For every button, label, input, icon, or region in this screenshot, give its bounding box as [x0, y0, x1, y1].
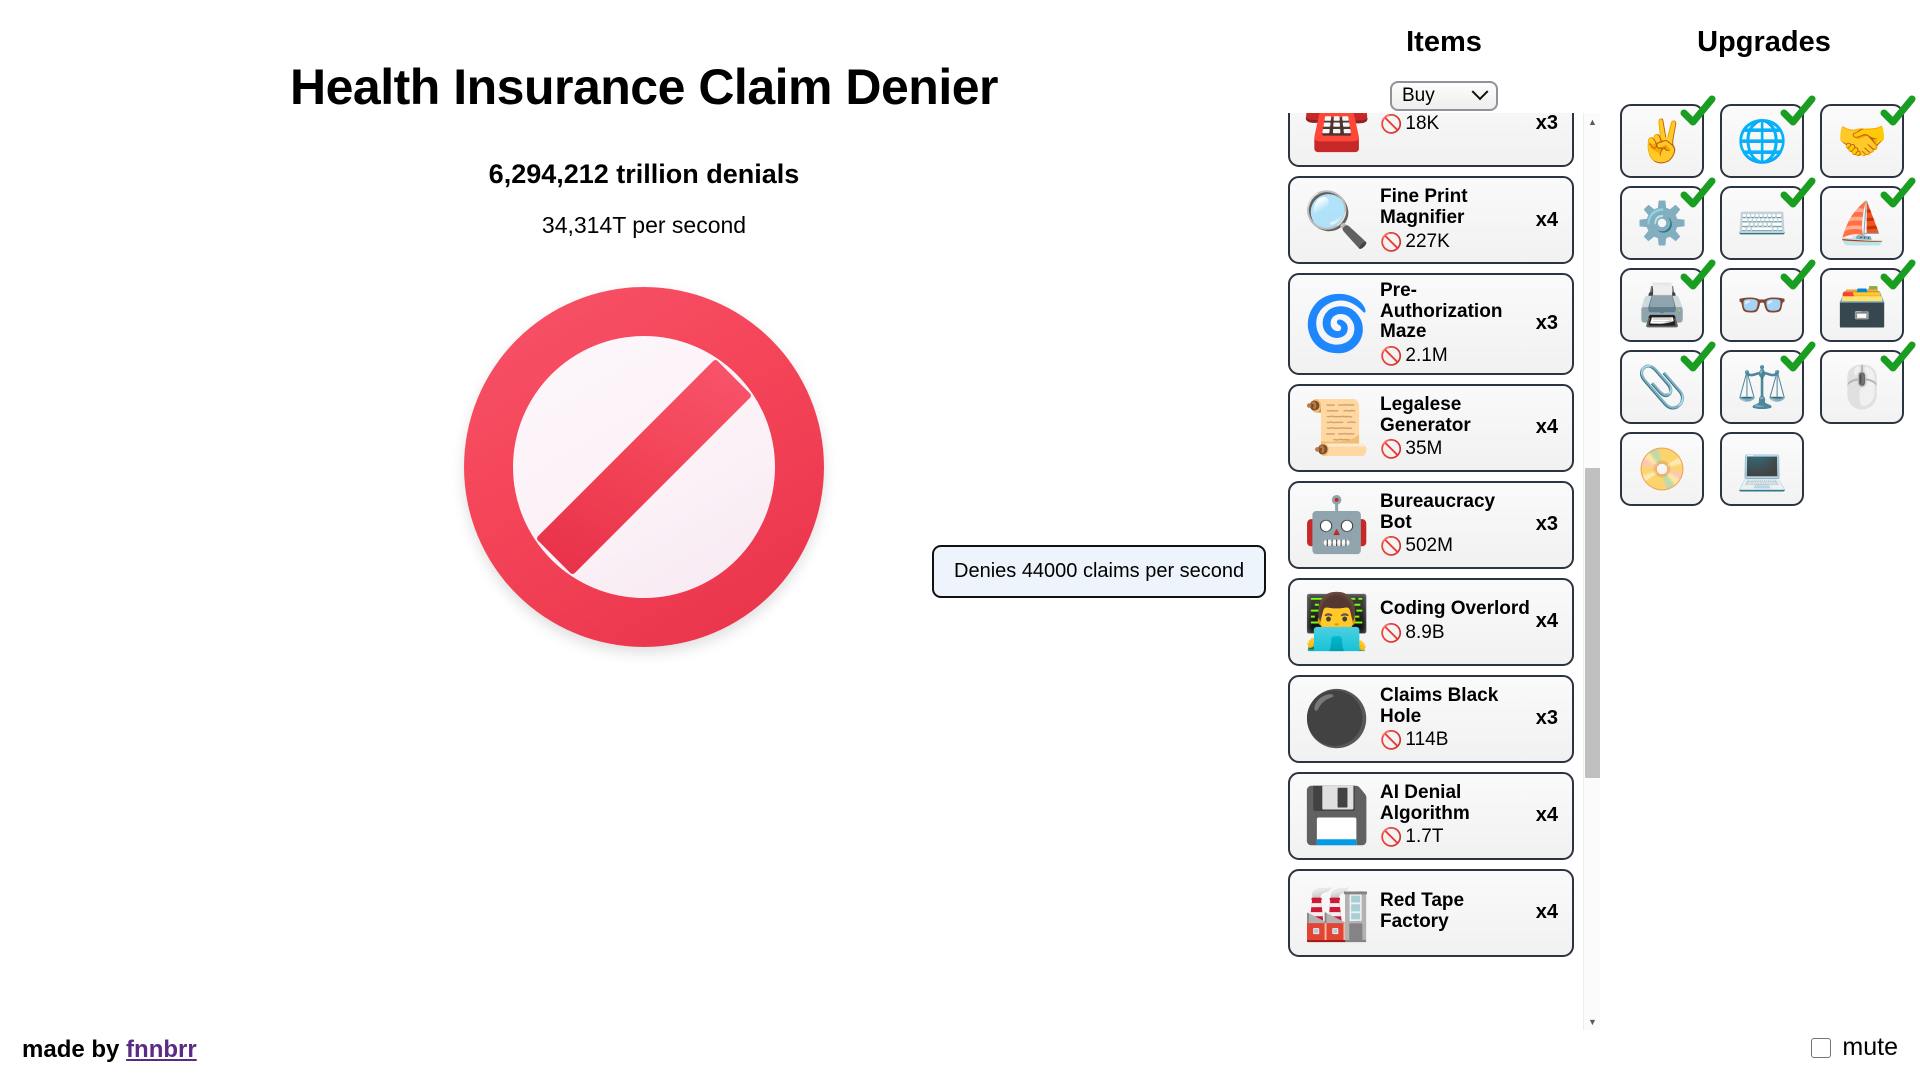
game-page: Health Insurance Claim Denier 6,294,212 …	[0, 0, 1920, 1080]
item-cost-value: 2.1M	[1405, 345, 1447, 367]
dvd-icon: 📀	[1636, 449, 1687, 490]
scroll-down-arrow-icon[interactable]: ▼	[1584, 1013, 1601, 1030]
items-list: ☎️🚫18Kx3🔍Fine Print Magnifier🚫227Kx4🌀Pre…	[1288, 113, 1578, 966]
item-details: 🚫18K	[1376, 113, 1532, 135]
item-quantity: x4	[1532, 901, 1564, 924]
upgrade-tile[interactable]: 🗃️	[1820, 268, 1904, 342]
upgrade-tile[interactable]: ⚖️	[1720, 350, 1804, 424]
chevron-down-icon	[1472, 83, 1489, 100]
item-quantity: x3	[1532, 707, 1564, 730]
upgrade-tile[interactable]: 💻	[1720, 432, 1804, 506]
card-file-box-icon: 🗃️	[1836, 285, 1887, 326]
laptop-icon: 💻	[1736, 449, 1787, 490]
scroll-icon: 📜	[1298, 392, 1376, 464]
item-details: Bureaucracy Bot🚫502M	[1376, 492, 1532, 557]
prohibition-cost-icon: 🚫	[1380, 537, 1402, 555]
item-cost-value: 35M	[1405, 438, 1442, 460]
credit-prefix: made by	[22, 1036, 126, 1063]
mute-control[interactable]: mute	[1811, 1033, 1898, 1062]
item-name: Claims Black Hole	[1380, 686, 1532, 727]
upgrade-cell: ⚙️	[1616, 182, 1716, 264]
item-cost-value: 502M	[1405, 535, 1453, 557]
upgrade-cell: 👓	[1716, 264, 1816, 346]
developer-icon: 👨‍💻	[1298, 586, 1376, 658]
item-name: AI Denial Algorithm	[1380, 783, 1532, 824]
balance-scale-icon: ⚖️	[1736, 367, 1787, 408]
item-details: AI Denial Algorithm🚫1.7T	[1376, 783, 1532, 848]
paperclip-icon: 📎	[1636, 367, 1687, 408]
prohibition-cost-icon: 🚫	[1380, 347, 1402, 365]
item-quantity: x3	[1532, 513, 1564, 536]
item-card[interactable]: 📜Legalese Generator🚫35Mx4	[1288, 384, 1574, 472]
item-quantity: x3	[1532, 113, 1564, 135]
clicker-tooltip: Denies 44000 claims per second	[932, 545, 1266, 598]
prohibition-cost-icon: 🚫	[1380, 731, 1402, 749]
prohibition-cost-icon: 🚫	[1380, 440, 1402, 458]
denial-count: 6,294,212 trillion denials	[489, 159, 800, 190]
upgrade-cell: 📀	[1616, 428, 1716, 510]
item-name: Red Tape Factory	[1380, 891, 1532, 932]
item-card[interactable]: 🌀Pre-Authorization Maze🚫2.1Mx3	[1288, 273, 1574, 375]
item-cost-value: 114B	[1405, 729, 1448, 751]
prohibition-cost-icon: 🚫	[1380, 624, 1402, 642]
item-name: Legalese Generator	[1380, 395, 1532, 436]
item-name: Coding Overlord	[1380, 599, 1532, 620]
item-quantity: x4	[1532, 209, 1564, 232]
victory-hand-icon: ✌️	[1636, 121, 1687, 162]
item-card[interactable]: 👨‍💻Coding Overlord🚫8.9Bx4	[1288, 578, 1574, 666]
upgrade-cell: 📎	[1616, 346, 1716, 428]
computer-mouse-icon: 🖱️	[1836, 367, 1887, 408]
upgrade-tile[interactable]: ✌️	[1620, 104, 1704, 178]
items-scrollbar[interactable]: ▲ ▼	[1583, 113, 1600, 1030]
upgrade-cell: ✌️	[1616, 100, 1716, 182]
denial-rate: 34,314T per second	[542, 212, 746, 239]
items-scroll-viewport: ☎️🚫18Kx3🔍Fine Print Magnifier🚫227Kx4🌀Pre…	[1288, 113, 1600, 1030]
upgrades-panel: Upgrades ✌️🌐🤝⚙️⌨️⛵🖨️👓🗃️📎⚖️🖱️📀💻	[1608, 0, 1920, 1030]
upgrade-cell: 🖨️	[1616, 264, 1716, 346]
globe-meridians-icon: 🌐	[1736, 121, 1787, 162]
item-cost-value: 8.9B	[1405, 622, 1444, 644]
mute-label: mute	[1842, 1033, 1898, 1062]
sailboat-icon: ⛵	[1836, 203, 1887, 244]
robot-icon: 🤖	[1298, 489, 1376, 561]
upgrade-cell: ⚖️	[1716, 346, 1816, 428]
upgrade-tile[interactable]: 🖱️	[1820, 350, 1904, 424]
item-quantity: x3	[1532, 312, 1564, 335]
item-card[interactable]: 💾AI Denial Algorithm🚫1.7Tx4	[1288, 772, 1574, 860]
factory-icon: 🏭	[1298, 877, 1376, 949]
item-cost: 🚫35M	[1380, 438, 1532, 460]
item-cost: 🚫8.9B	[1380, 622, 1532, 644]
upgrade-tile[interactable]: 📎	[1620, 350, 1704, 424]
floppy-disk-icon: 💾	[1298, 780, 1376, 852]
item-card[interactable]: ⚫Claims Black Hole🚫114Bx3	[1288, 675, 1574, 763]
telephone-icon: ☎️	[1298, 113, 1376, 159]
item-card[interactable]: ☎️🚫18Kx3	[1288, 113, 1574, 167]
handshake-icon: 🤝	[1836, 121, 1887, 162]
upgrades-heading: Upgrades	[1608, 26, 1920, 59]
prohibition-cost-icon: 🚫	[1380, 828, 1402, 846]
upgrade-tile[interactable]: ⌨️	[1720, 186, 1804, 260]
scrollbar-thumb[interactable]	[1585, 468, 1600, 778]
buy-mode-row: Buy	[1288, 81, 1600, 111]
prohibition-cost-icon: 🚫	[1380, 233, 1402, 251]
upgrade-cell: ⌨️	[1716, 182, 1816, 264]
upgrade-cell: 🤝	[1816, 100, 1916, 182]
item-quantity: x4	[1532, 416, 1564, 439]
item-details: Legalese Generator🚫35M	[1376, 395, 1532, 460]
upgrade-tile[interactable]: ⚙️	[1620, 186, 1704, 260]
item-details: Red Tape Factory	[1376, 891, 1532, 934]
upgrade-cell: 🗃️	[1816, 264, 1916, 346]
upgrade-tile[interactable]: ⛵	[1820, 186, 1904, 260]
upgrade-cell: 💻	[1716, 428, 1816, 510]
gear-icon: ⚙️	[1636, 203, 1687, 244]
item-card[interactable]: 🤖Bureaucracy Bot🚫502Mx3	[1288, 481, 1574, 569]
author-link[interactable]: fnnbrr	[126, 1036, 197, 1063]
keyboard-icon: ⌨️	[1736, 203, 1787, 244]
item-details: Coding Overlord🚫8.9B	[1376, 599, 1532, 644]
spiral-icon: 🌀	[1298, 288, 1376, 360]
item-details: Claims Black Hole🚫114B	[1376, 686, 1532, 751]
prohibition-sign-clicker[interactable]	[464, 287, 824, 647]
upgrade-tile[interactable]: 🖨️	[1620, 268, 1704, 342]
magnifying-glass-icon: 🔍	[1298, 184, 1376, 256]
item-cost: 🚫1.7T	[1380, 826, 1532, 848]
item-cost: 🚫227K	[1380, 231, 1532, 253]
upgrade-tile[interactable]: 🌐	[1720, 104, 1804, 178]
buy-mode-select[interactable]: Buy	[1390, 81, 1498, 111]
main-game-area: Health Insurance Claim Denier 6,294,212 …	[0, 0, 1288, 1030]
item-quantity: x4	[1532, 610, 1564, 633]
item-card[interactable]: 🏭Red Tape Factoryx4	[1288, 869, 1574, 957]
glasses-icon: 👓	[1736, 285, 1787, 326]
prohibition-cost-icon: 🚫	[1380, 115, 1402, 133]
item-cost: 🚫2.1M	[1380, 345, 1532, 367]
upgrade-cell: 🌐	[1716, 100, 1816, 182]
item-cost: 🚫18K	[1380, 113, 1532, 135]
upgrade-tile[interactable]: 👓	[1720, 268, 1804, 342]
scroll-up-arrow-icon[interactable]: ▲	[1584, 113, 1601, 130]
black-hole-icon: ⚫	[1298, 683, 1376, 755]
item-details: Pre-Authorization Maze🚫2.1M	[1376, 281, 1532, 367]
item-cost: 🚫114B	[1380, 729, 1532, 751]
upgrade-tile[interactable]: 🤝	[1820, 104, 1904, 178]
item-name: Bureaucracy Bot	[1380, 492, 1532, 533]
item-details: Fine Print Magnifier🚫227K	[1376, 187, 1532, 252]
item-cost-value: 1.7T	[1405, 826, 1443, 848]
upgrade-cell: 🖱️	[1816, 346, 1916, 428]
upgrades-grid: ✌️🌐🤝⚙️⌨️⛵🖨️👓🗃️📎⚖️🖱️📀💻	[1616, 100, 1916, 510]
item-name: Fine Print Magnifier	[1380, 187, 1532, 228]
items-heading: Items	[1288, 26, 1600, 59]
credit-text: made by fnnbrr	[22, 1036, 197, 1064]
upgrade-cell: ⛵	[1816, 182, 1916, 264]
items-panel: Items Buy ☎️🚫18Kx3🔍Fine Print Magnifier🚫…	[1288, 0, 1600, 1030]
buy-mode-value: Buy	[1402, 85, 1435, 107]
item-cost: 🚫502M	[1380, 535, 1532, 557]
item-card[interactable]: 🔍Fine Print Magnifier🚫227Kx4	[1288, 176, 1574, 264]
item-cost-value: 18K	[1405, 113, 1439, 135]
printer-icon: 🖨️	[1636, 285, 1687, 326]
page-title: Health Insurance Claim Denier	[290, 60, 998, 115]
item-cost-value: 227K	[1405, 231, 1449, 253]
item-quantity: x4	[1532, 804, 1564, 827]
mute-checkbox[interactable]	[1811, 1038, 1831, 1058]
item-name: Pre-Authorization Maze	[1380, 281, 1532, 343]
upgrade-tile[interactable]: 📀	[1620, 432, 1704, 506]
